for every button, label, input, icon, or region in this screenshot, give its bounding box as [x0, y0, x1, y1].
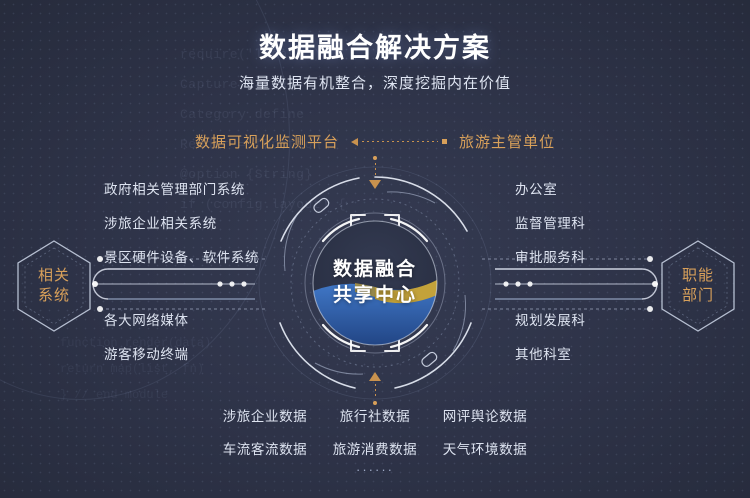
- list-item: 政府相关管理部门系统: [104, 178, 259, 198]
- hub-rings: [255, 163, 495, 403]
- hex-right-line2: 部门: [682, 286, 714, 306]
- data-fusion-hub[interactable]: 数据融合 共享中心: [255, 163, 495, 403]
- list-item: 旅行社数据: [320, 405, 430, 425]
- marker-dot: [373, 156, 377, 160]
- dotted-arrow-left-icon: [351, 138, 447, 146]
- right-column-bottom: 规划发展科 其他科室: [515, 309, 586, 377]
- list-item: 规划发展科: [515, 309, 586, 329]
- list-item: 游客移动终端: [104, 343, 189, 363]
- dotted-line: [362, 141, 438, 142]
- hexagon-label-left: 相关 系统: [14, 238, 94, 334]
- list-item: 旅游消费数据: [320, 438, 430, 458]
- list-item: 天气环境数据: [430, 438, 540, 458]
- list-item: 其他科室: [515, 343, 586, 363]
- arrow-head: [351, 138, 358, 146]
- hexagon-label-right: 职能 部门: [658, 238, 738, 334]
- hex-right-line1: 职能: [682, 266, 714, 286]
- list-item: 景区硬件设备、软件系统: [104, 246, 259, 266]
- page-subtitle: 海量数据有机整合，深度挖掘内在价值: [0, 72, 750, 93]
- list-item: 网评舆论数据: [430, 405, 540, 425]
- page-title: 数据融合解决方案: [0, 26, 750, 65]
- list-item: 涉旅企业相关系统: [104, 212, 259, 232]
- left-column-top: 政府相关管理部门系统 涉旅企业相关系统 景区硬件设备、软件系统: [104, 178, 259, 280]
- list-item: 涉旅企业数据: [210, 405, 320, 425]
- hex-left-line1: 相关: [38, 266, 70, 286]
- visualization-platform-label: 数据可视化监测平台: [195, 131, 339, 152]
- list-item: 监督管理科: [515, 212, 586, 232]
- ellipsis-marker: ······: [0, 462, 750, 477]
- top-label-row: 数据可视化监测平台 旅游主管单位: [0, 131, 750, 152]
- right-column-top: 办公室 监督管理科 审批服务科: [515, 178, 586, 280]
- infographic-canvas: require('lodash') Capture.parse() Catego…: [0, 0, 750, 498]
- list-item: 办公室: [515, 178, 586, 198]
- list-item: 审批服务科: [515, 246, 586, 266]
- hex-left-line2: 系统: [38, 286, 70, 306]
- list-item: 车流客流数据: [210, 438, 320, 458]
- line-endpoint: [442, 139, 447, 144]
- left-column-bottom: 各大网络媒体 游客移动终端: [104, 309, 189, 377]
- list-item: 各大网络媒体: [104, 309, 189, 329]
- hexagon-related-systems[interactable]: 相关 系统: [14, 238, 94, 334]
- tourism-authority-label: 旅游主管单位: [459, 131, 555, 152]
- hexagon-functional-departments[interactable]: 职能 部门: [658, 238, 738, 334]
